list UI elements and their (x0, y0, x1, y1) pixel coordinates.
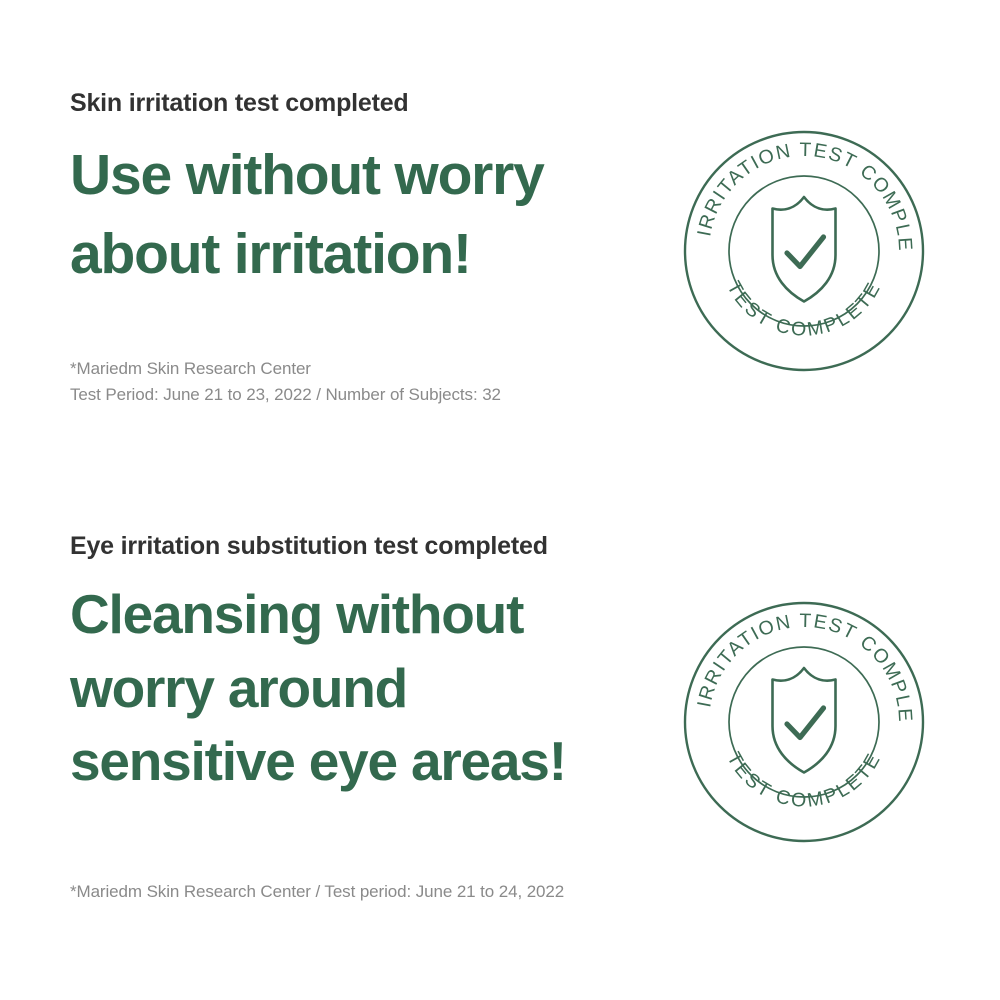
section-skin-irritation: Skin irritation test completed Use witho… (0, 0, 1000, 500)
seal-arc-top-text: SKIN IRRITATION TEST COMPLETED (682, 129, 916, 253)
check-mark (787, 237, 824, 267)
eye-caption: *Mariedm Skin Research Center / Test per… (70, 879, 670, 905)
product-claims-page: Skin irritation test completed Use witho… (0, 0, 1000, 1000)
skin-caption-line-1: *Mariedm Skin Research Center (70, 356, 670, 382)
eye-headline-line-1: Cleansing without (70, 578, 670, 652)
eye-headline-wrapper: Cleansing without worry around sensitive… (70, 578, 670, 799)
seal-arc-bottom-text: TEST COMPLETE (722, 278, 885, 341)
eye-caption-line-1: *Mariedm Skin Research Center / Test per… (70, 879, 670, 905)
skin-headline-line-1: Use without worry (70, 136, 670, 215)
section-eye-irritation: Eye irritation substitution test complet… (0, 500, 1000, 1000)
seal-arc-bottom-text: TEST COMPLETE (722, 749, 885, 812)
skin-test-completed-seal: SKIN IRRITATION TEST COMPLETED TEST COMP… (682, 129, 926, 373)
seal-arc-bottom-textpath: TEST COMPLETE (722, 749, 885, 812)
skin-headline: Use without worry about irritation! (70, 136, 670, 293)
eye-headline-line-2: worry around (70, 652, 670, 726)
skin-headline-line-2: about irritation! (70, 215, 670, 294)
skin-caption-line-2: Test Period: June 21 to 23, 2022 / Numbe… (70, 382, 670, 408)
seal-arc-top-textpath: SKIN IRRITATION TEST COMPLETED (682, 129, 916, 253)
check-mark (787, 708, 824, 738)
shield-outline (773, 197, 836, 302)
eye-eyebrow-label: Eye irritation substitution test complet… (70, 531, 670, 561)
shield-check-icon (773, 197, 836, 302)
eye-caption-wrapper: *Mariedm Skin Research Center / Test per… (70, 879, 670, 905)
eye-test-completed-seal: SKIN IRRITATION TEST COMPLETED TEST COMP… (682, 600, 926, 844)
skin-eyebrow-wrapper: Skin irritation test completed (70, 88, 670, 118)
eye-headline: Cleansing without worry around sensitive… (70, 578, 670, 799)
skin-caption: *Mariedm Skin Research Center Test Perio… (70, 356, 670, 409)
skin-headline-wrapper: Use without worry about irritation! (70, 136, 670, 293)
shield-check-icon (773, 668, 836, 773)
skin-caption-wrapper: *Mariedm Skin Research Center Test Perio… (70, 356, 670, 409)
shield-outline (773, 668, 836, 773)
skin-eyebrow-label: Skin irritation test completed (70, 88, 670, 118)
seal-arc-bottom-textpath: TEST COMPLETE (722, 278, 885, 341)
seal-arc-top-text: SKIN IRRITATION TEST COMPLETED (682, 600, 916, 724)
eye-eyebrow-wrapper: Eye irritation substitution test complet… (70, 531, 670, 561)
eye-headline-line-3: sensitive eye areas! (70, 725, 670, 799)
seal-arc-top-textpath: SKIN IRRITATION TEST COMPLETED (682, 600, 916, 724)
